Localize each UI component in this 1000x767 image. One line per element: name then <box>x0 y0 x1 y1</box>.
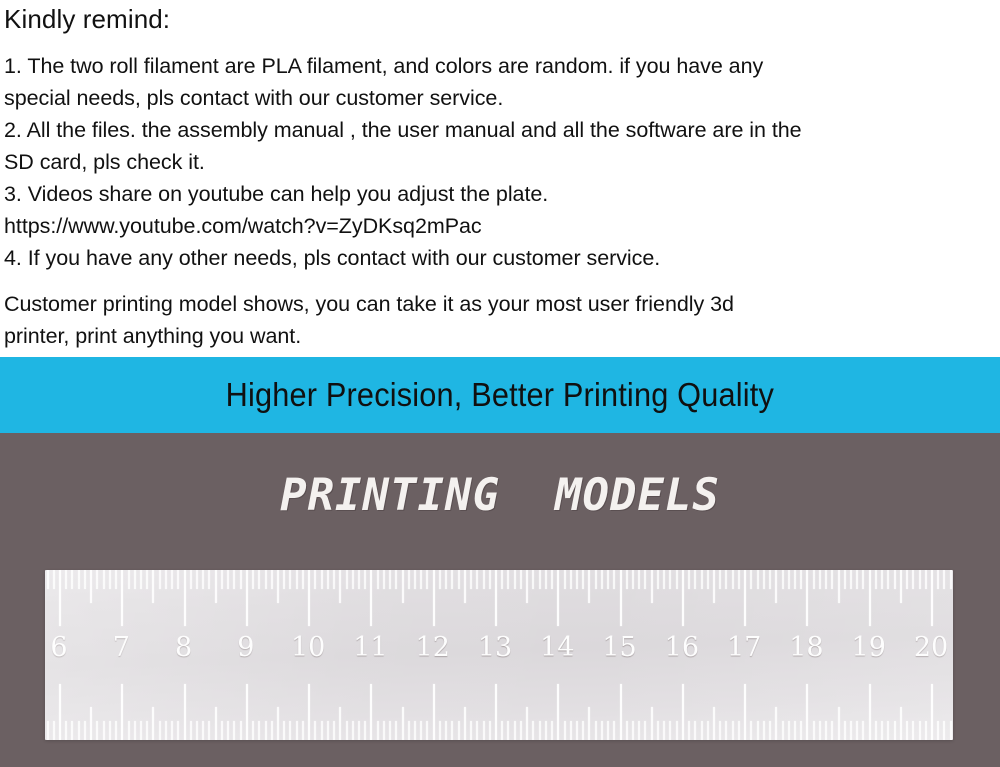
promo-banner: Higher Precision, Better Printing Qualit… <box>0 357 1000 433</box>
ruler-number-labels: 67891011121314151617181920 <box>45 570 953 740</box>
list-item: SD card, pls check it. <box>2 146 1000 178</box>
page-title: Kindly remind: <box>2 0 1000 34</box>
youtube-link[interactable]: https://www.youtube.com/watch?v=ZyDKsq2m… <box>2 210 1000 242</box>
printing-models-title: PRINTING MODELS <box>0 470 1000 521</box>
ruler-photo: 67891011121314151617181920 <box>45 570 953 740</box>
ruler-number-17: 17 <box>727 632 761 663</box>
closing-paragraph: Customer printing model shows, you can t… <box>2 274 1000 352</box>
ruler-number-10: 10 <box>291 632 325 663</box>
list-item: 4. If you have any other needs, pls cont… <box>2 242 1000 274</box>
ruler-number-7: 7 <box>113 632 130 663</box>
ruler-number-9: 9 <box>237 632 254 663</box>
ruler-number-6: 6 <box>50 632 67 663</box>
spacer <box>2 34 1000 50</box>
ruler-number-15: 15 <box>602 632 636 663</box>
list-item: 2. All the files. the assembly manual , … <box>2 114 1000 146</box>
list-item: 1. The two roll filament are PLA filamen… <box>2 50 1000 82</box>
promo-banner-text: Higher Precision, Better Printing Qualit… <box>226 376 774 414</box>
reminder-list: 1. The two roll filament are PLA filamen… <box>2 50 1000 274</box>
list-item: special needs, pls contact with our cust… <box>2 82 1000 114</box>
ruler-number-8: 8 <box>175 632 192 663</box>
ruler-number-13: 13 <box>478 632 512 663</box>
reminder-section: Kindly remind: 1. The two roll filament … <box>0 0 1000 352</box>
closing-line: Customer printing model shows, you can t… <box>4 288 1000 320</box>
list-item: 3. Videos share on youtube can help you … <box>2 178 1000 210</box>
ruler-number-11: 11 <box>353 632 387 663</box>
ruler-number-12: 12 <box>416 632 450 663</box>
ruler-number-19: 19 <box>852 632 886 663</box>
ruler-number-14: 14 <box>540 632 574 663</box>
ruler-number-18: 18 <box>789 632 823 663</box>
ruler-number-16: 16 <box>665 632 699 663</box>
ruler-number-20: 20 <box>914 632 948 663</box>
closing-line: printer, print anything you want. <box>4 320 1000 352</box>
